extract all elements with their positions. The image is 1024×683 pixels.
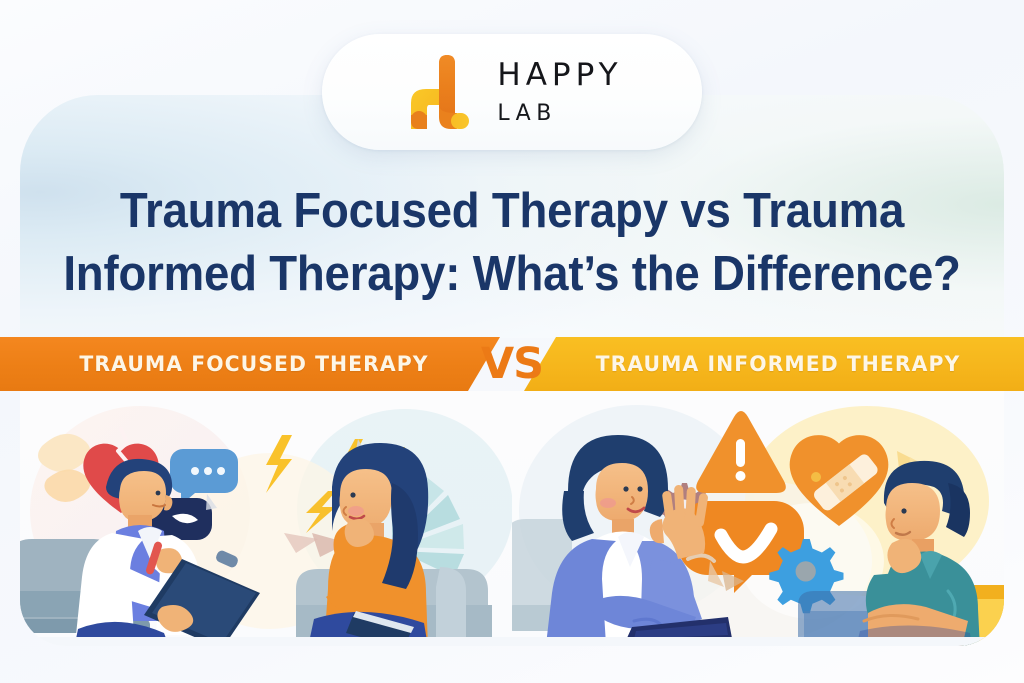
page-title-line-1: Trauma Focused Therapy vs Trauma (54, 180, 969, 243)
brand-name-secondary: LAB (497, 103, 556, 125)
happy-lab-logo-mark-icon (401, 53, 475, 131)
versus-badge: VS (472, 334, 552, 394)
banner-label-left: TRAUMA FOCUSED THERAPY (79, 352, 428, 376)
poster-canvas: HAPPY LAB Trauma Focused Therapy vs Trau… (0, 0, 1024, 683)
brand-name-primary: HAPPY (497, 60, 622, 91)
trauma-focused-therapy-scene (20, 391, 512, 646)
brand-logo-pill[interactable]: HAPPY LAB (322, 34, 702, 150)
banner-trauma-focused: TRAUMA FOCUSED THERAPY (0, 337, 500, 391)
banner-label-right: TRAUMA INFORMED THERAPY (596, 352, 961, 376)
page-title: Trauma Focused Therapy vs Trauma Informe… (20, 180, 1004, 306)
trauma-informed-therapy-scene (512, 391, 1004, 646)
banner-trauma-informed: TRAUMA INFORMED THERAPY (524, 337, 1024, 391)
page-title-line-2: Informed Therapy: What’s the Difference? (54, 243, 969, 306)
brand-wordmark: HAPPY LAB (497, 60, 622, 125)
illustration-card (20, 391, 1004, 646)
comparison-banner-row: TRAUMA FOCUSED THERAPY TRAUMA INFORMED T… (0, 337, 1024, 391)
